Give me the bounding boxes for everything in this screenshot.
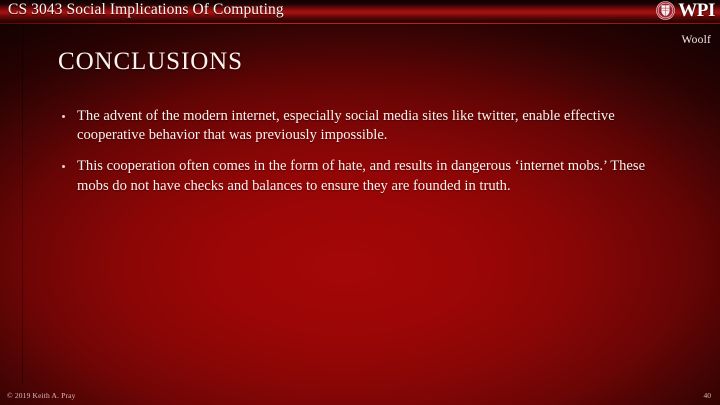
wpi-seal-icon — [656, 1, 675, 20]
bullet-dot-icon — [62, 165, 65, 168]
presenter-name: Woolf — [682, 34, 711, 46]
presentation-slide: CS 3043 Social Implications Of Computing… — [0, 0, 720, 405]
left-accent-rule — [22, 24, 23, 384]
bullet-item: This cooperation often comes in the form… — [58, 157, 670, 195]
course-title: CS 3043 Social Implications Of Computing — [8, 1, 284, 19]
slide-number: 40 — [704, 391, 712, 400]
slide-title: CONCLUSIONS — [58, 48, 243, 76]
wpi-logo: WPI — [656, 1, 715, 20]
slide-header-bar: CS 3043 Social Implications Of Computing… — [0, 0, 720, 24]
wpi-wordmark: WPI — [678, 1, 715, 20]
slide-body: The advent of the modern internet, espec… — [58, 107, 670, 196]
copyright-notice: © 2019 Keith A. Pray — [7, 391, 76, 400]
bullet-dot-icon — [62, 115, 65, 118]
bullet-item: The advent of the modern internet, espec… — [58, 107, 670, 145]
bullet-text: The advent of the modern internet, espec… — [77, 108, 615, 143]
bullet-text: This cooperation often comes in the form… — [77, 158, 645, 193]
